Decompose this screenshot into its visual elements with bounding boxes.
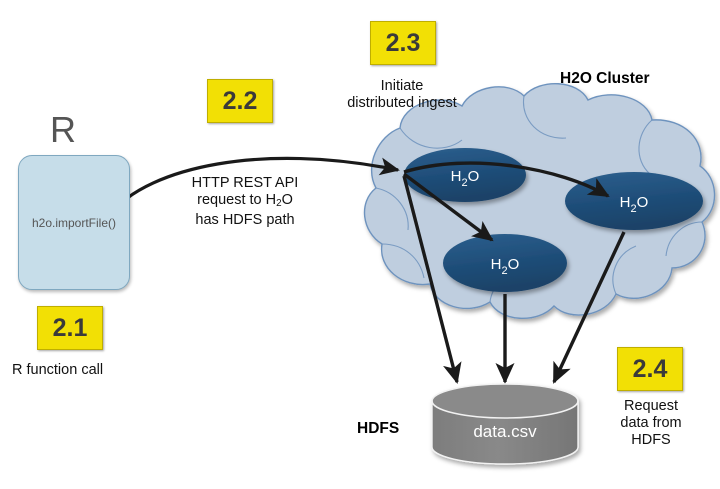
step-badge-2-3[interactable]: 2.3 [370, 21, 436, 65]
step-caption-2-1: R function call [12, 362, 172, 379]
cluster-node-3: H2O [443, 234, 567, 292]
rest-request-line-3: has HDFS path [165, 212, 325, 229]
step-caption-2-4-line-1: Request [603, 398, 699, 415]
step-badge-2-2[interactable]: 2.2 [207, 79, 273, 123]
step-caption-2-4-line-2: data from [603, 415, 699, 432]
r-client-box[interactable]: h2o.importFile() [18, 155, 130, 290]
rest-request-line-1: HTTP REST API [165, 175, 325, 192]
cluster-node-2: H2O [565, 172, 703, 230]
rest-request-annotation: HTTP REST API request to H2O has HDFS pa… [165, 175, 325, 229]
step-caption-2-3-line-1: Initiate [322, 78, 482, 95]
rest-request-line-2-pre: request to H [197, 192, 276, 208]
rest-request-line-2-post: O [282, 192, 293, 208]
hdfs-file-label: data.csv [473, 422, 537, 441]
step-caption-2-4-line-3: HDFS [603, 432, 699, 449]
cluster-heading: H2O Cluster [560, 70, 650, 88]
step-badge-2-4[interactable]: 2.4 [617, 347, 683, 391]
hdfs-heading: HDFS [357, 420, 399, 438]
diagram-canvas: H2O H2O H2O data.csv [0, 0, 720, 489]
r-function-call-label: h2o.importFile() [32, 216, 116, 230]
step-caption-2-3: Initiate distributed ingest [322, 78, 482, 112]
step-caption-2-4: Request data from HDFS [603, 398, 699, 449]
step-badge-2-1[interactable]: 2.1 [37, 306, 103, 350]
cluster-node-1: H2O [404, 148, 526, 202]
rest-request-line-2: request to H2O [165, 192, 325, 212]
r-language-label: R [50, 112, 76, 148]
step-caption-2-3-line-2: distributed ingest [322, 95, 482, 112]
